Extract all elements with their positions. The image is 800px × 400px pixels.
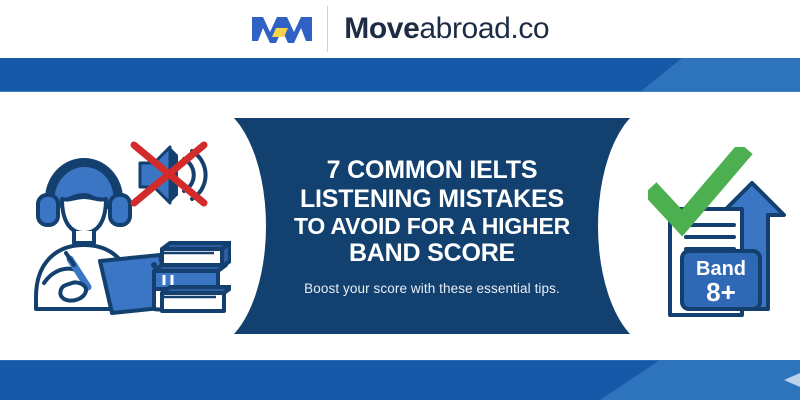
page-title-line-1: 7 COMMON IELTS — [258, 156, 606, 185]
band-badge-label-2: 8+ — [706, 277, 736, 307]
muted-speaker-icon — [134, 145, 206, 203]
brand-divider — [327, 6, 329, 52]
right-illustration-group: Band 8+ — [648, 147, 796, 322]
brand-name-strong: Move — [344, 12, 419, 45]
infographic-canvas: Moveabroad.co — [0, 0, 800, 400]
page-title-line-2: LISTENING MISTAKES — [258, 185, 606, 214]
page-title-line-4: BAND SCORE — [258, 239, 606, 268]
band-score-badge: Band 8+ — [682, 251, 760, 309]
moveabroad-m-logo-icon — [251, 10, 313, 48]
bottom-band-diagonal-accent — [600, 360, 800, 400]
title-banner: 7 COMMON IELTS LISTENING MISTAKES TO AVO… — [232, 118, 632, 334]
page-subtitle: Boost your score with these essential ti… — [304, 281, 560, 296]
top-band-diagonal-accent — [640, 58, 800, 92]
stack-of-books-icon — [154, 243, 231, 311]
bottom-blue-band — [0, 360, 800, 400]
left-illustration-group — [26, 137, 231, 327]
page-title-line-3: TO AVOID FOR A HIGHER — [258, 213, 606, 239]
main-content: 7 COMMON IELTS LISTENING MISTAKES TO AVO… — [0, 92, 800, 350]
top-blue-band — [0, 58, 800, 92]
brand-name: Moveabroad.co — [344, 14, 549, 44]
title-banner-content: 7 COMMON IELTS LISTENING MISTAKES TO AVO… — [232, 118, 632, 334]
brand-lockup[interactable]: Moveabroad.co — [251, 6, 549, 52]
page-title: 7 COMMON IELTS LISTENING MISTAKES TO AVO… — [258, 156, 606, 268]
page-header: Moveabroad.co — [0, 0, 800, 58]
brand-name-light: abroad.co — [419, 12, 549, 45]
